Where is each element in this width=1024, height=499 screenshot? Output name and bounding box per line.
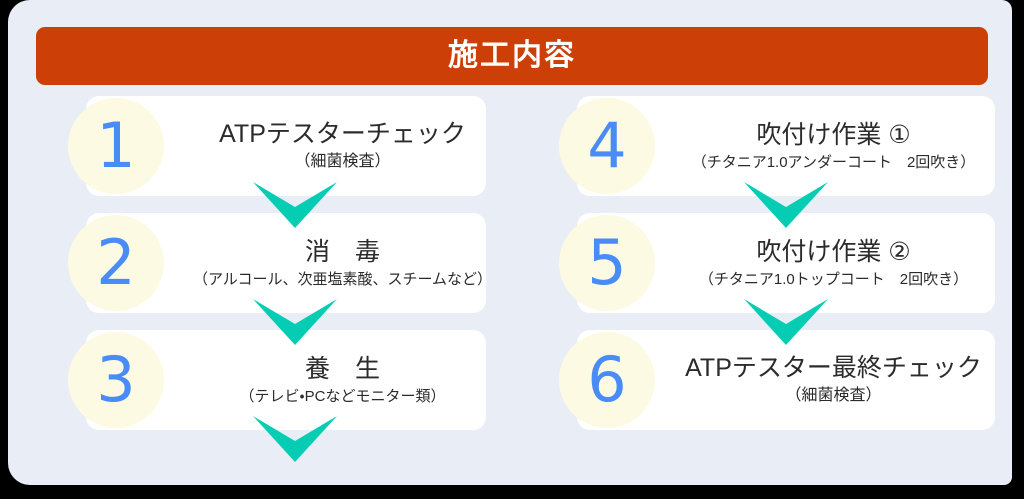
step-text: ATPテスターチェック （細菌検査）: [172, 96, 513, 196]
step-number: 5: [587, 232, 626, 294]
step-number: 4: [587, 115, 626, 177]
step-title: ATPテスターチェック: [219, 119, 466, 150]
step-item: 1 ATPテスターチェック （細菌検査）: [68, 96, 521, 196]
section-banner: 施工内容: [36, 27, 988, 85]
step-number-badge: 5: [559, 215, 655, 311]
step-text: 吹付け作業 ② （チタニア1.0トップコート 2回吹き）: [663, 213, 1004, 313]
step-subtitle: （細菌検査）: [294, 152, 390, 173]
page-root: 施工内容 1 ATPテスターチェック （細菌検査）: [0, 0, 1024, 499]
step-subtitle: （アルコール、次亜塩素酸、スチームなど）: [193, 270, 492, 290]
step-subtitle: （チタニア1.0アンダーコート 2回吹き）: [692, 153, 976, 173]
step-subtitle: （細菌検査）: [785, 386, 881, 407]
step-title: 吹付け作業 ②: [756, 237, 910, 268]
flow-column-left: 1 ATPテスターチェック （細菌検査） 2: [68, 96, 521, 430]
step-title: 養 生: [305, 354, 380, 385]
page-title: 施工内容: [448, 41, 576, 71]
step-subtitle: （テレビ・PCなどモニター類）: [240, 387, 446, 407]
step-number-badge: 2: [68, 215, 164, 311]
step-item: 4 吹付け作業 ① （チタニア1.0アンダーコート 2回吹き）: [559, 96, 1012, 196]
step-text: 消 毒 （アルコール、次亜塩素酸、スチームなど）: [172, 213, 513, 313]
step-subtitle: （チタニア1.0トップコート 2回吹き）: [699, 270, 968, 290]
step-number-badge: 6: [559, 332, 655, 428]
step-title: 吹付け作業 ①: [756, 120, 910, 151]
step-number-badge: 4: [559, 98, 655, 194]
step-title: ATPテスター最終チェック: [685, 353, 982, 384]
step-item: 3 養 生 （テレビ・PCなどモニター類）: [68, 330, 521, 430]
flow-columns: 1 ATPテスターチェック （細菌検査） 2: [8, 96, 1012, 430]
step-number: 6: [587, 349, 626, 411]
flow-column-right: 4 吹付け作業 ① （チタニア1.0アンダーコート 2回吹き）: [559, 96, 1012, 430]
step-number: 2: [96, 232, 135, 294]
step-text: 吹付け作業 ① （チタニア1.0アンダーコート 2回吹き）: [663, 96, 1004, 196]
step-number: 1: [96, 115, 135, 177]
step-text: 養 生 （テレビ・PCなどモニター類）: [172, 330, 513, 430]
step-number-badge: 1: [68, 98, 164, 194]
content-panel: 施工内容 1 ATPテスターチェック （細菌検査）: [8, 0, 1012, 485]
step-item: 6 ATPテスター最終チェック （細菌検査）: [559, 330, 1012, 430]
step-item: 2 消 毒 （アルコール、次亜塩素酸、スチームなど）: [68, 213, 521, 313]
step-number-badge: 3: [68, 332, 164, 428]
step-number: 3: [96, 349, 135, 411]
step-text: ATPテスター最終チェック （細菌検査）: [663, 330, 1004, 430]
step-item: 5 吹付け作業 ② （チタニア1.0トップコート 2回吹き）: [559, 213, 1012, 313]
step-title: 消 毒: [305, 237, 380, 268]
